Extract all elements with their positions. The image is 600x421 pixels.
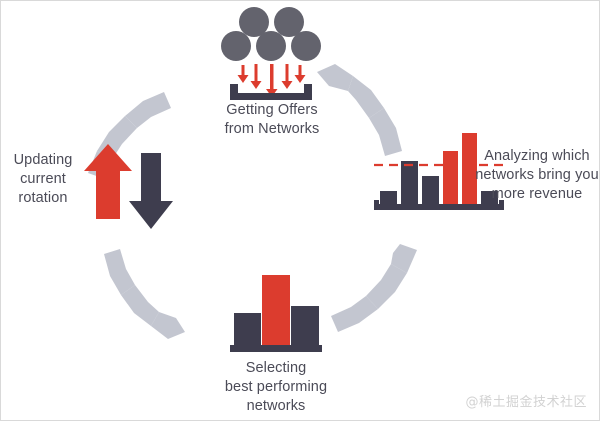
selection-bar-2	[262, 275, 290, 345]
offer-arrow-group	[238, 64, 306, 97]
selection-baseline	[230, 345, 322, 352]
watermark-text: @稀土掘金技术社区	[465, 391, 587, 410]
up-down-arrows-icon	[84, 144, 173, 229]
analysis-bar-3	[422, 176, 439, 204]
arc-right-bottom	[331, 244, 417, 332]
offer-circle	[256, 31, 286, 61]
caption-updating-rotation: Updating current rotation	[0, 151, 89, 208]
caption-analyzing-networks: Analyzing which networks bring you more …	[469, 147, 600, 204]
analysis-bar-2	[401, 161, 418, 204]
selection-bar-chart-icon	[230, 275, 322, 352]
up-arrow-red	[84, 144, 132, 219]
offer-circle	[291, 31, 321, 61]
selection-bar-3	[291, 306, 319, 345]
diagram-graphics	[1, 1, 600, 421]
analysis-bar-1	[380, 191, 397, 204]
caption-selecting-networks: Selecting best performing networks	[191, 359, 361, 416]
caption-getting-offers: Getting Offers from Networks	[187, 101, 357, 139]
selection-bar-1	[234, 313, 261, 345]
analysis-bar-4	[443, 151, 458, 204]
diagram-canvas: Getting Offers from Networks Analyzing w…	[0, 0, 600, 421]
arc-bottom-left	[104, 249, 185, 339]
offer-circle	[221, 31, 251, 61]
offers-funnel-icon	[221, 7, 321, 100]
down-arrow-dark	[129, 153, 173, 229]
